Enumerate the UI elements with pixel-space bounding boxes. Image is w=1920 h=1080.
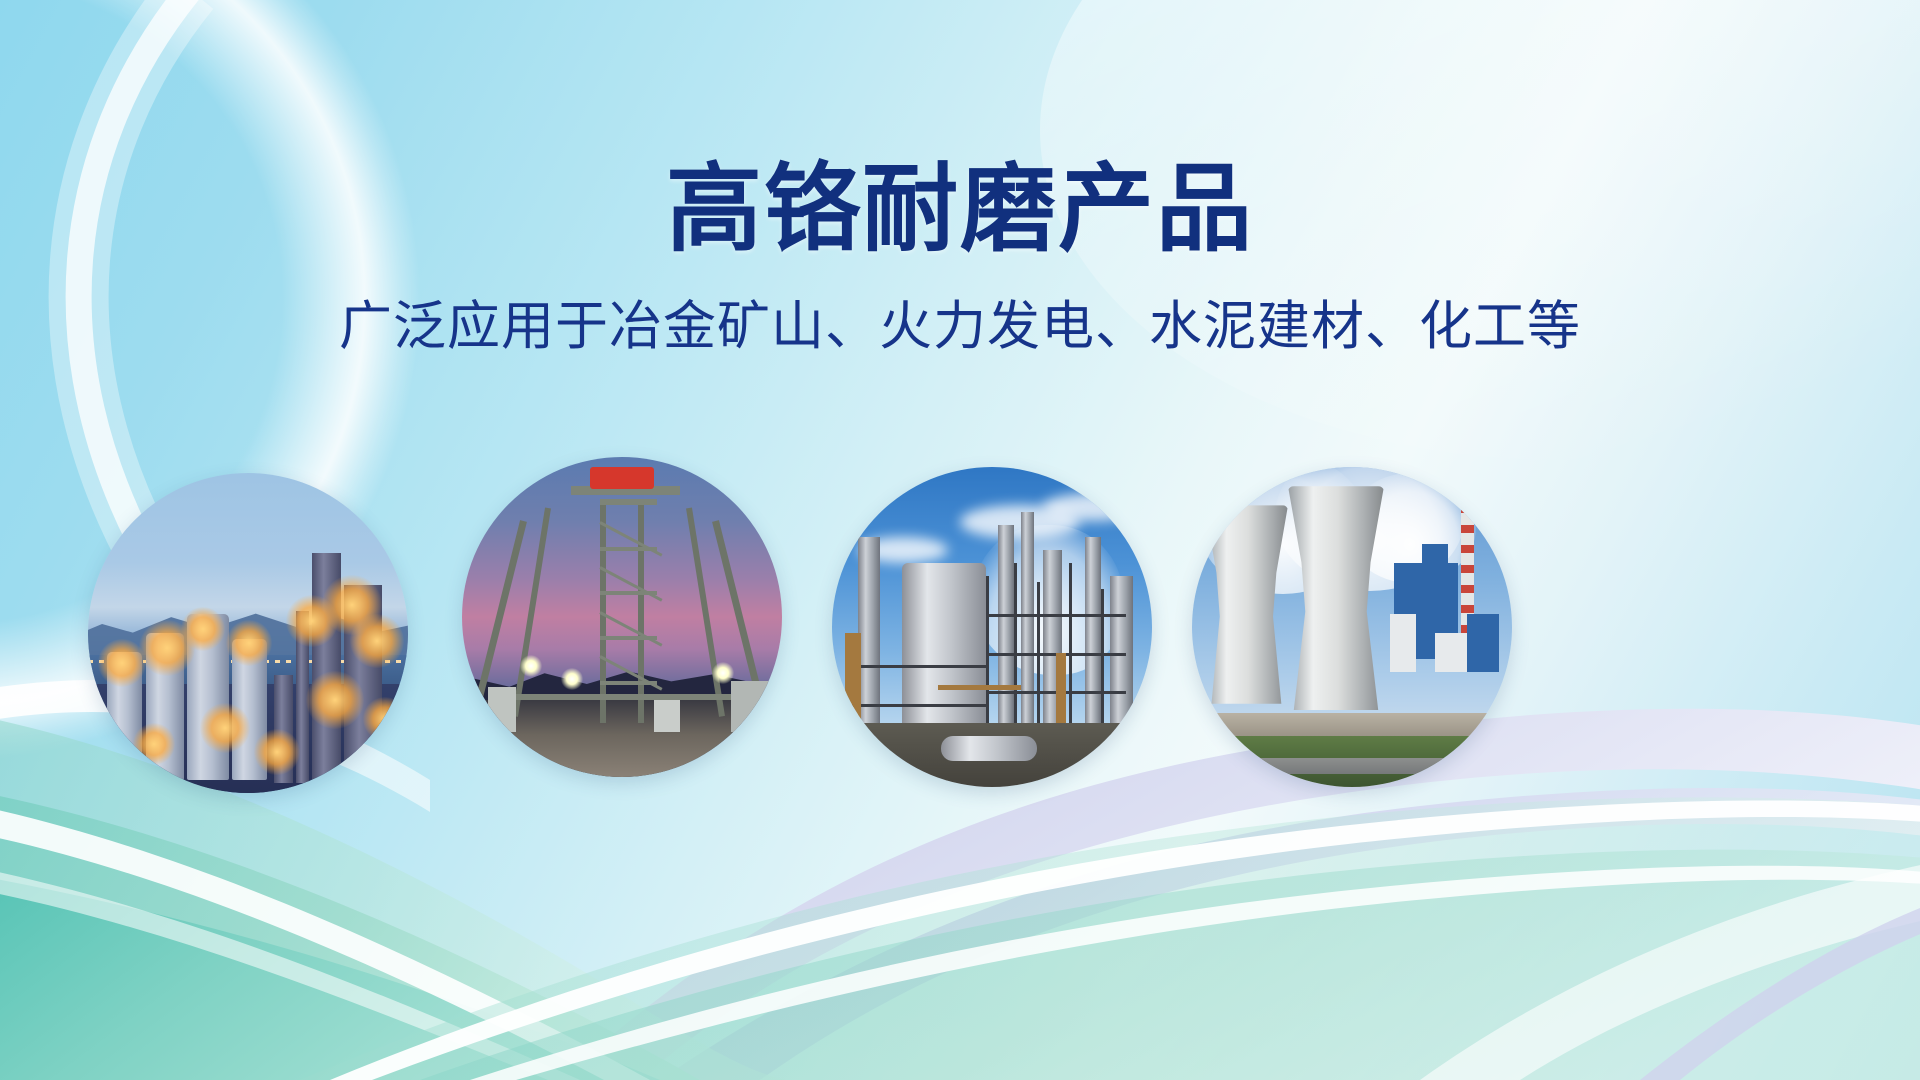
product-banner: 高铬耐磨产品 广泛应用于冶金矿山、火力发电、水泥建材、化工等 bbox=[0, 0, 1920, 1080]
cement-plant-photo bbox=[88, 473, 408, 793]
page-title: 高铬耐磨产品 bbox=[0, 0, 1920, 258]
industry-photo-row bbox=[0, 455, 1920, 815]
headline-block: 高铬耐磨产品 广泛应用于冶金矿山、火力发电、水泥建材、化工等 bbox=[0, 0, 1920, 353]
page-subtitle: 广泛应用于冶金矿山、火力发电、水泥建材、化工等 bbox=[0, 258, 1920, 353]
thermal-power-plant-photo bbox=[1192, 467, 1512, 787]
chemical-refinery-photo bbox=[832, 467, 1152, 787]
mine-headframe-photo bbox=[462, 457, 782, 777]
